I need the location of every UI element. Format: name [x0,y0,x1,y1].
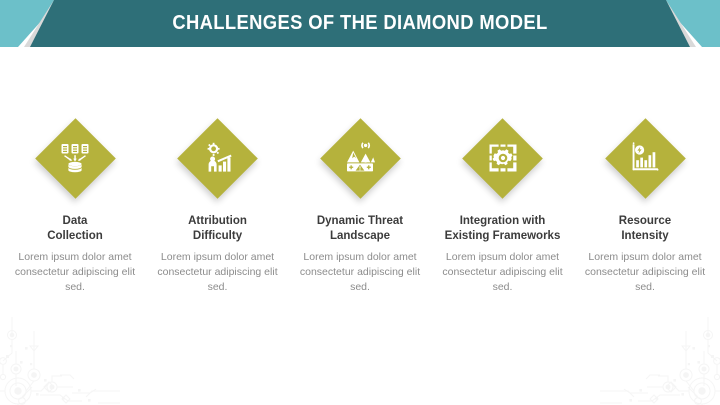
card-title-line-2: Landscape [330,230,390,242]
threat-landscape-icon [343,141,377,175]
card-body: Lorem ipsum dolor amet consectetur adipi… [9,250,141,295]
diamond-badge-4 [463,118,543,198]
integration-gear-icon [486,141,520,175]
card-body: Lorem ipsum dolor amet consectetur adipi… [579,250,711,295]
challenge-card-list: Data Collection Lorem ipsum dolor amet c… [0,118,720,295]
card-title: Integration with Existing Frameworks [445,214,561,244]
diamond-badge-2 [178,118,258,198]
diamond-badge-3 [320,118,400,198]
card-title-line-1: Dynamic Threat [317,215,403,227]
header-band: CHALLENGES OF THE DIAMOND MODEL [0,0,720,47]
page-title: CHALLENGES OF THE DIAMOND MODEL [172,12,547,35]
card-title-line-2: Existing Frameworks [445,230,561,242]
challenge-card-integration-existing-frameworks: Integration with Existing Frameworks Lor… [434,118,572,295]
card-body: Lorem ipsum dolor amet consectetur adipi… [152,250,284,295]
diamond-badge-5 [605,118,685,198]
card-title: Data Collection [47,214,103,244]
diamond-badge-1 [35,118,115,198]
circuit-decoration-left [0,305,130,405]
card-title: Resource Intensity [619,214,671,244]
card-title-line-2: Difficulty [193,230,242,242]
card-title-line-2: Collection [47,230,103,242]
card-body: Lorem ipsum dolor amet consectetur adipi… [437,250,569,295]
slide-header: CHALLENGES OF THE DIAMOND MODEL [0,0,720,47]
card-title-line-1: Resource [619,215,671,227]
card-title-line-1: Attribution [188,215,247,227]
card-title-line-2: Intensity [621,230,668,242]
card-title: Attribution Difficulty [188,214,247,244]
resource-intensity-icon [628,141,662,175]
challenge-card-data-collection: Data Collection Lorem ipsum dolor amet c… [6,118,144,295]
slide: CHALLENGES OF THE DIAMOND MODEL [0,0,720,405]
card-body: Lorem ipsum dolor amet consectetur adipi… [294,250,426,295]
challenge-card-dynamic-threat-landscape: Dynamic Threat Landscape Lorem ipsum dol… [291,118,429,295]
circuit-decoration-right [590,305,720,405]
card-title: Dynamic Threat Landscape [317,214,403,244]
challenge-card-resource-intensity: Resource Intensity Lorem ipsum dolor ame… [576,118,714,295]
card-title-line-1: Data [63,215,88,227]
challenge-card-attribution-difficulty: Attribution Difficulty Lorem ipsum dolor… [149,118,287,295]
card-title-line-1: Integration with [460,215,546,227]
data-collection-icon [58,141,92,175]
attribution-analytics-icon [201,141,235,175]
